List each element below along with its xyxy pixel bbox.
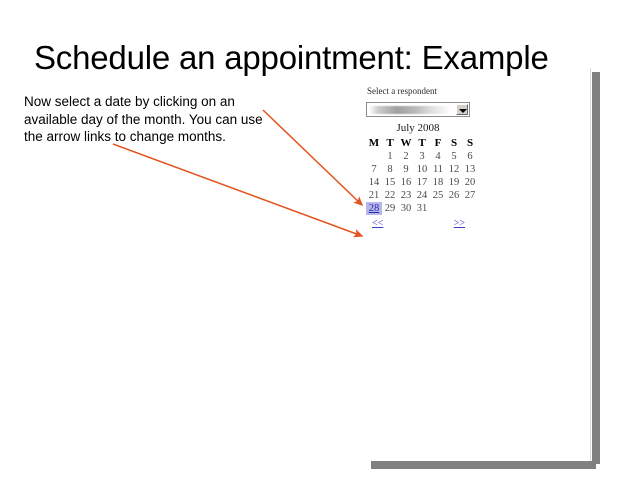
calendar-selected-day-link[interactable]: 28 — [369, 203, 380, 214]
calendar-day-cell[interactable]: 23 — [398, 189, 414, 202]
calendar-day-cell[interactable]: 29 — [382, 202, 398, 215]
arrow-to-selected-day — [263, 110, 362, 205]
calendar-day-cell[interactable]: 31 — [414, 202, 430, 215]
respondent-label: Select a respondent — [367, 86, 478, 97]
calendar-day-cell[interactable]: 11 — [430, 163, 446, 176]
calendar-day-cell[interactable]: 22 — [382, 189, 398, 202]
calendar-weekday-header: W — [398, 136, 414, 150]
calendar-day-cell[interactable]: 30 — [398, 202, 414, 215]
appointment-widget: Select a respondent July 2008 M T W T F … — [366, 86, 478, 230]
calendar-weekday-row: M T W T F S S — [366, 136, 478, 150]
calendar-day-cell — [462, 202, 478, 215]
calendar-day-cell-selected[interactable]: 28 — [366, 202, 382, 215]
prev-month-link[interactable]: << — [372, 218, 383, 229]
slide-shadow-right — [592, 72, 600, 464]
calendar-day-cell — [430, 202, 446, 215]
calendar-day-cell — [446, 202, 462, 215]
arrow-to-month-nav — [113, 144, 362, 236]
calendar-day-cell[interactable]: 27 — [462, 189, 478, 202]
calendar-week-row: 21 22 23 24 25 26 27 — [366, 189, 478, 202]
page-title: Schedule an appointment: Example — [34, 38, 549, 78]
calendar-weekday-header: S — [462, 136, 478, 150]
calendar-day-cell[interactable]: 9 — [398, 163, 414, 176]
calendar-weekday-header: F — [430, 136, 446, 150]
instruction-text: Now select a date by clicking on an avai… — [24, 93, 269, 146]
calendar-week-row: 7 8 9 10 11 12 13 — [366, 163, 478, 176]
respondent-select-value — [369, 106, 451, 114]
slide-frame-edge — [590, 68, 591, 462]
calendar-nav: << >> — [366, 218, 470, 230]
calendar-day-cell[interactable]: 20 — [462, 176, 478, 189]
calendar-day-cell[interactable]: 1 — [382, 150, 398, 163]
calendar-weekday-header: T — [382, 136, 398, 150]
calendar-weekday-header: S — [446, 136, 462, 150]
calendar-day-cell[interactable]: 18 — [430, 176, 446, 189]
slide-canvas: Schedule an appointment: Example Now sel… — [0, 0, 640, 480]
calendar-weekday-header: T — [414, 136, 430, 150]
calendar-day-cell[interactable]: 2 — [398, 150, 414, 163]
chevron-down-icon[interactable] — [456, 104, 468, 115]
calendar-day-cell[interactable]: 7 — [366, 163, 382, 176]
calendar-day-cell[interactable]: 16 — [398, 176, 414, 189]
calendar-month-title: July 2008 — [366, 121, 470, 135]
calendar-day-cell[interactable]: 8 — [382, 163, 398, 176]
calendar-day-cell[interactable]: 26 — [446, 189, 462, 202]
calendar-grid: M T W T F S S 1 2 3 4 5 6 — [366, 136, 478, 215]
calendar-week-row: 14 15 16 17 18 19 20 — [366, 176, 478, 189]
calendar-day-cell[interactable]: 10 — [414, 163, 430, 176]
calendar-week-row: 28 29 30 31 — [366, 202, 478, 215]
respondent-select[interactable] — [366, 102, 470, 117]
next-month-link[interactable]: >> — [454, 218, 465, 229]
calendar-week-row: 1 2 3 4 5 6 — [366, 150, 478, 163]
calendar-day-cell[interactable]: 19 — [446, 176, 462, 189]
slide-shadow-bottom — [371, 461, 596, 469]
calendar-weekday-header: M — [366, 136, 382, 150]
calendar-day-cell[interactable]: 5 — [446, 150, 462, 163]
calendar-day-cell[interactable]: 15 — [382, 176, 398, 189]
calendar-day-cell[interactable]: 14 — [366, 176, 382, 189]
calendar-day-cell[interactable]: 25 — [430, 189, 446, 202]
calendar-day-cell[interactable]: 6 — [462, 150, 478, 163]
calendar-day-cell[interactable]: 21 — [366, 189, 382, 202]
calendar-day-cell[interactable]: 24 — [414, 189, 430, 202]
calendar-day-cell[interactable]: 12 — [446, 163, 462, 176]
calendar-day-cell[interactable]: 4 — [430, 150, 446, 163]
calendar-day-cell[interactable]: 17 — [414, 176, 430, 189]
calendar-day-cell[interactable]: 3 — [414, 150, 430, 163]
calendar-day-cell — [366, 150, 382, 163]
calendar-day-cell[interactable]: 13 — [462, 163, 478, 176]
